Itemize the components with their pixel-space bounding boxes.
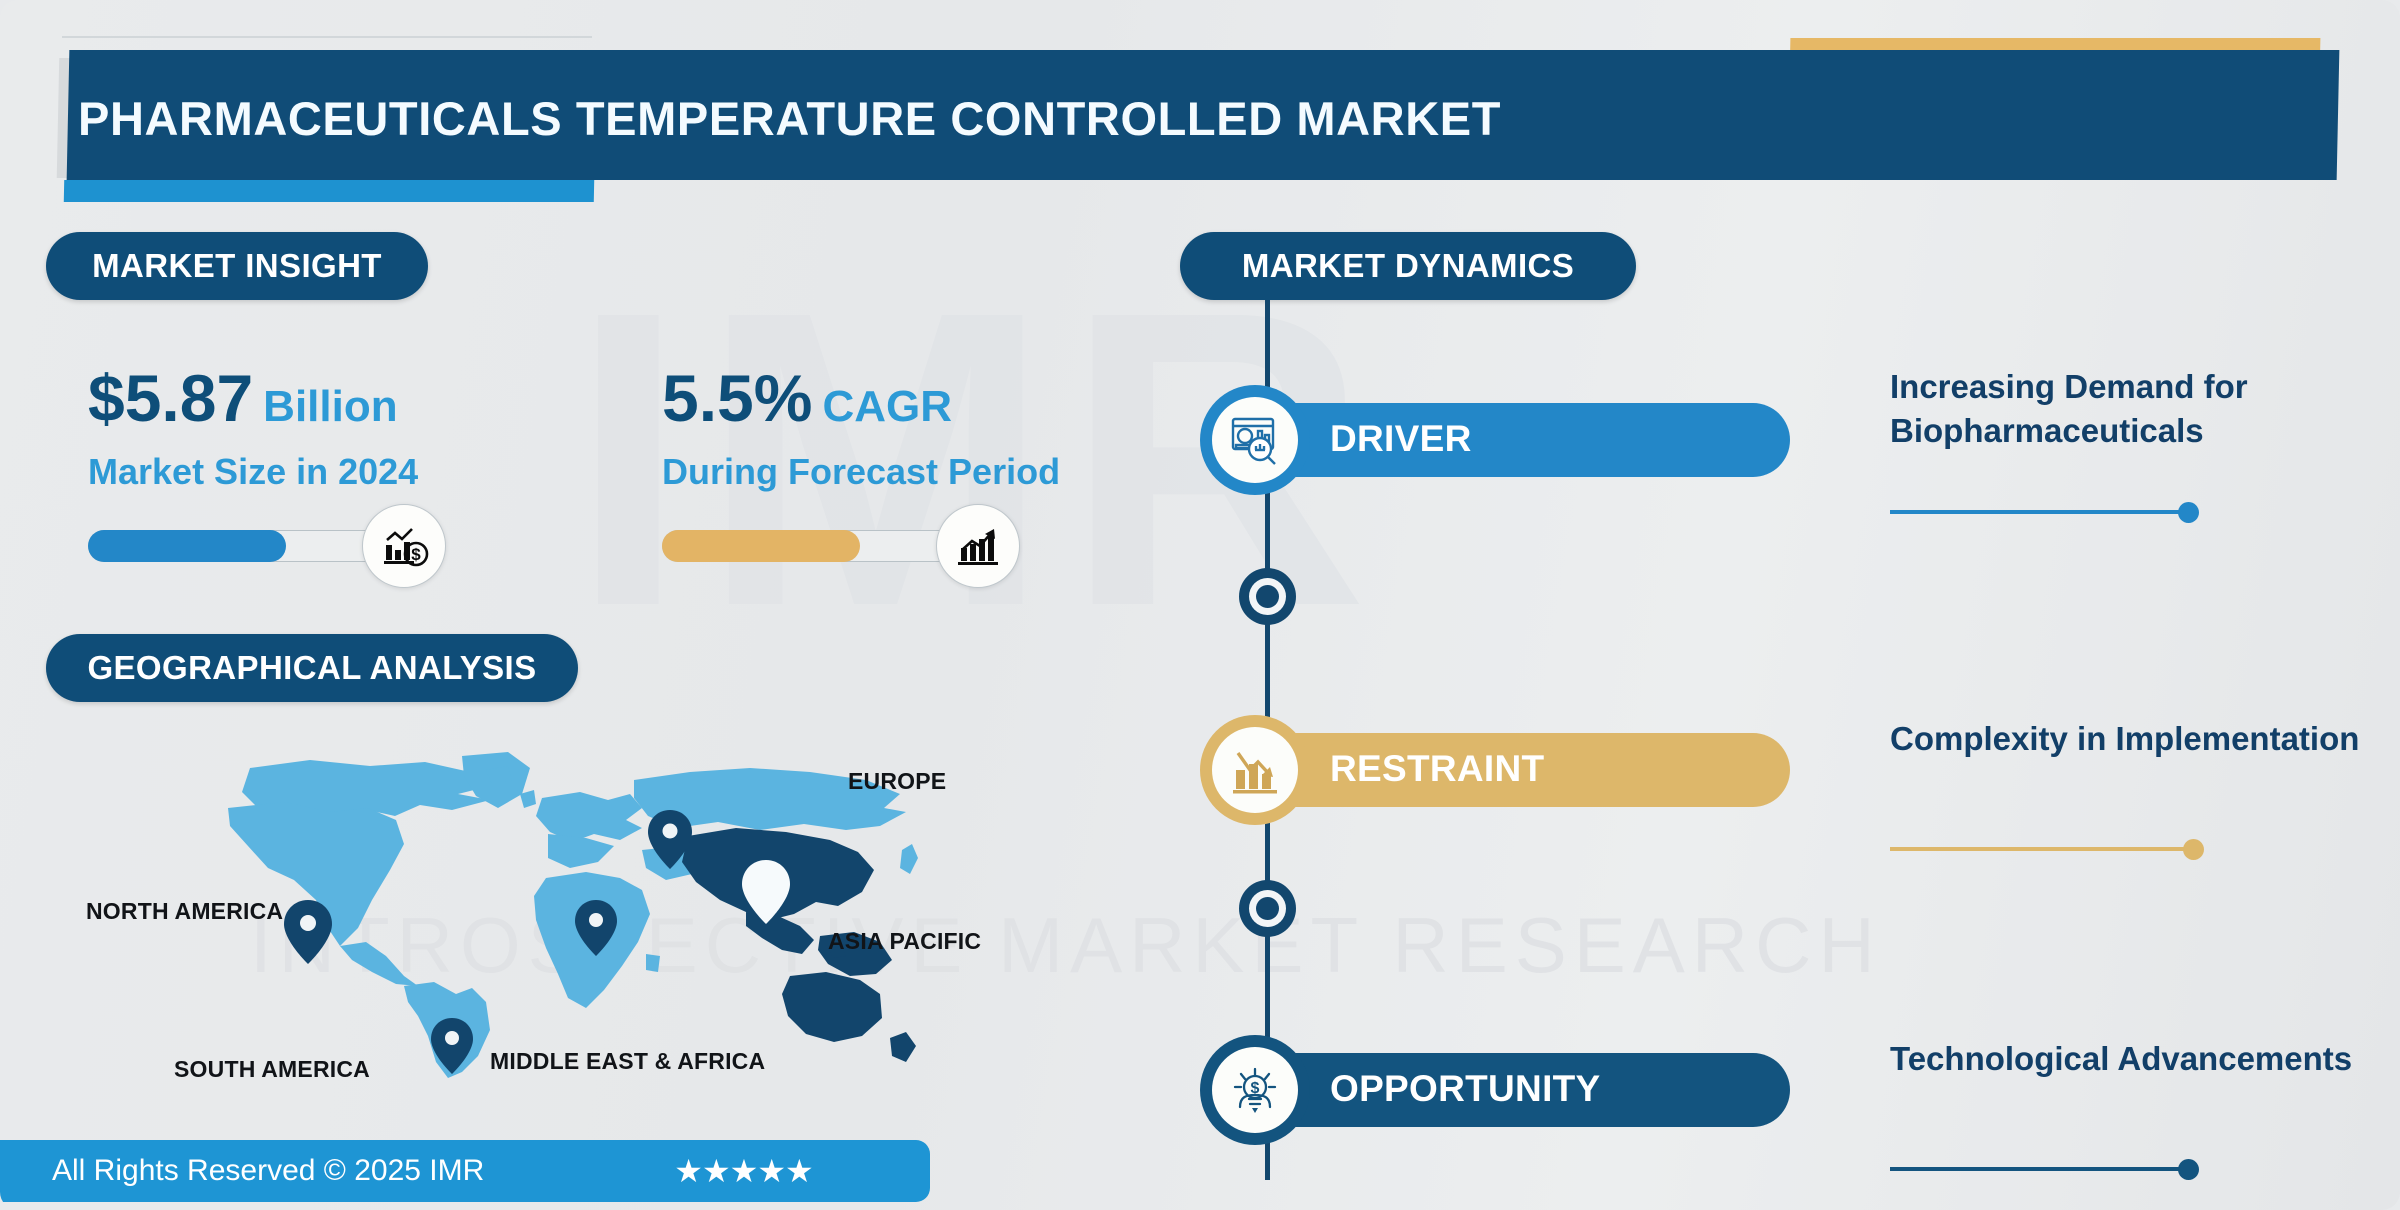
section-label-market-insight: MARKET INSIGHT <box>46 232 428 300</box>
cagr-progress <box>662 530 982 562</box>
opportunity-category: OPPORTUNITY <box>1330 1068 1601 1110</box>
driver-leader-dot <box>2178 502 2199 523</box>
header-thin-rule <box>62 36 592 38</box>
map-label-south-america: SOUTH AMERICA <box>174 1056 370 1083</box>
market-size-caption: Market Size in 2024 <box>88 451 418 493</box>
section-label-geographical-analysis: GEOGRAPHICAL ANALYSIS <box>46 634 578 702</box>
map-label-middle-east-africa: MIDDLE EAST & AFRICA <box>490 1048 765 1075</box>
metric-cagr: 5.5%CAGR During Forecast Period <box>662 365 1060 493</box>
timeline-node <box>1239 880 1296 937</box>
report-magnifier-icon <box>1200 385 1310 495</box>
svg-text:$: $ <box>411 545 421 564</box>
section-label-market-dynamics: MARKET DYNAMICS <box>1180 232 1636 300</box>
declining-bar-chart-icon <box>1200 715 1310 825</box>
infographic-page: IMR INTROSPECTIVE MARKET RESEARCH PHARMA… <box>0 0 2400 1210</box>
opportunity-leader-dot <box>2178 1159 2199 1180</box>
footer-bar: All Rights Reserved © 2025 IMR ★★★★★ <box>0 1140 930 1202</box>
driver-description: Increasing Demand for Biopharmaceuticals <box>1890 365 2400 453</box>
world-map <box>190 750 990 1080</box>
opportunity-description: Technological Advancements <box>1890 1037 2400 1081</box>
copyright-text: All Rights Reserved © 2025 IMR <box>52 1154 484 1188</box>
growth-arrow-chart-icon <box>936 504 1020 588</box>
lightbulb-dollar-icon: $ <box>1200 1035 1310 1145</box>
star-rating-icon: ★★★★★ <box>674 1152 812 1190</box>
cagr-value: 5.5% <box>662 365 812 431</box>
timeline-node <box>1239 568 1296 625</box>
driver-leader-line <box>1890 510 2190 514</box>
map-label-europe: EUROPE <box>848 768 946 795</box>
header-blue-accent <box>64 180 594 202</box>
restraint-leader-dot <box>2183 839 2204 860</box>
progress-fill <box>88 530 286 562</box>
page-title: PHARMACEUTICALS TEMPERATURE CONTROLLED M… <box>78 78 2278 158</box>
map-label-north-america: NORTH AMERICA <box>86 898 283 925</box>
restraint-category: RESTRAINT <box>1330 748 1544 790</box>
cagr-unit: CAGR <box>822 385 952 429</box>
driver-category: DRIVER <box>1330 418 1472 460</box>
bar-chart-dollar-icon: $ <box>362 504 446 588</box>
svg-text:$: $ <box>1251 1080 1260 1097</box>
progress-fill <box>662 530 860 562</box>
metric-market-size: $5.87Billion Market Size in 2024 <box>88 365 418 493</box>
cagr-caption: During Forecast Period <box>662 451 1060 493</box>
market-size-unit: Billion <box>263 385 397 429</box>
market-size-value: $5.87 <box>88 365 253 431</box>
restraint-leader-line <box>1890 847 2195 851</box>
map-label-asia-pacific: ASIA PACIFIC <box>828 928 981 955</box>
restraint-description: Complexity in Implementation <box>1890 717 2400 761</box>
market-size-progress: $ <box>88 530 408 562</box>
opportunity-leader-line <box>1890 1167 2190 1171</box>
